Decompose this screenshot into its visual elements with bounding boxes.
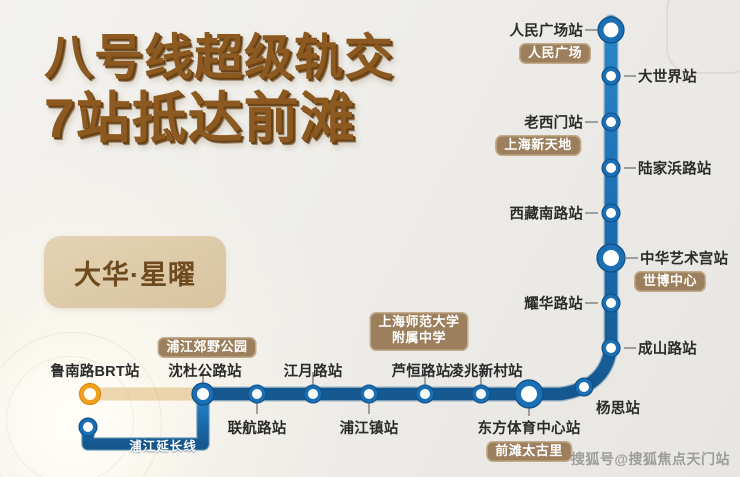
station-label-lunan-lu-brt: 鲁南路BRT站 [50, 360, 139, 381]
station-label-dongfang-tiyu-zhongxin: 东方体育中心站 [478, 417, 581, 438]
station-label-lujiabang-lu: 陆家浜路站 [638, 158, 712, 179]
station-label-zhonghua-yishugong: 中华艺术宫站 [640, 248, 728, 269]
station-label-lingzhao-xincun: 凌兆新村站 [449, 360, 523, 381]
poi-badge-shibo-zhongxin: 世博中心 [634, 271, 706, 292]
poi-badge-qiantan-taikooli: 前滩太古里 [486, 441, 572, 462]
poi-badge-line-1: 上海师范大学 [378, 314, 459, 330]
station-label-yaohua-lu: 耀华路站 [524, 293, 583, 314]
poi-badge-shanghai-shifan-daxue: 上海师范大学 附属中学 [369, 312, 468, 351]
poi-badge-shanghai-xintiandi: 上海新天地 [495, 135, 581, 156]
station-label-yangsi: 杨思站 [596, 397, 640, 418]
station-markers [79, 17, 625, 436]
station-label-luheng-lu: 芦恒路站 [392, 360, 451, 381]
station-label-xizang-nanlu: 西藏南路站 [510, 203, 584, 224]
poi-badge-line-2: 附属中学 [378, 330, 459, 346]
station-label-lianhang-lu: 联航路站 [228, 417, 287, 438]
subway-map-poster: 八号线超级轨交 7站抵达前滩 大华·星曜 [0, 0, 740, 477]
station-label-laoximen: 老西门站 [524, 112, 583, 133]
station-label-chengshan-lu: 成山路站 [638, 338, 697, 359]
branch-line-label: 浦江延长线 [129, 436, 197, 455]
poi-badge-pujiang-jiaoye-gongyuan: 浦江郊野公园 [157, 337, 256, 358]
station-label-jiangyue-lu: 江月路站 [284, 360, 343, 381]
poi-badge-renmin-guangchang: 人民广场 [519, 43, 591, 64]
station-label-dashijie: 大世界站 [638, 66, 697, 87]
watermark-text: 搜狐号@搜狐焦点天门站 [571, 449, 730, 469]
station-label-pujiangzhen: 浦江镇站 [340, 417, 399, 438]
station-label-shendu-gonglu: 沈杜公路站 [168, 360, 242, 381]
station-label-renmin-guangchang: 人民广场站 [510, 20, 584, 41]
